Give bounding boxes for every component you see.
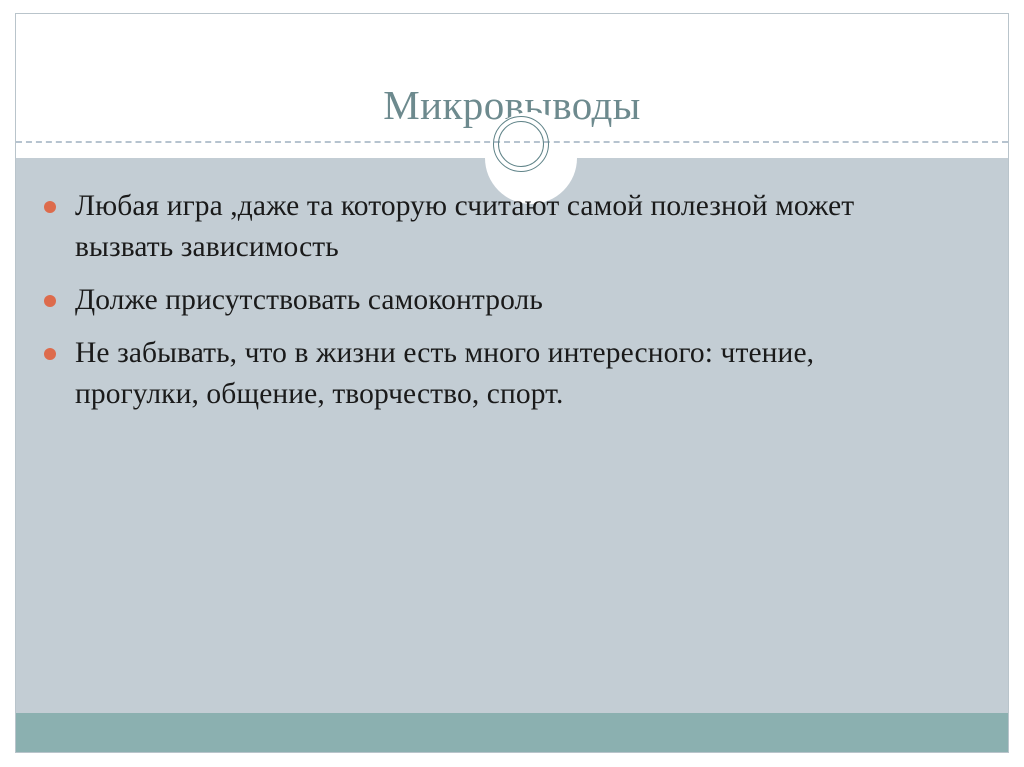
footer-accent-band xyxy=(16,713,1008,752)
list-item-label: Долже присутствовать самоконтроль xyxy=(75,280,898,321)
list-item-label: Не забывать, что в жизни есть много инте… xyxy=(75,333,898,415)
list-item: Долже присутствовать самоконтроль xyxy=(16,280,1008,321)
ring-inner-circle xyxy=(498,121,544,167)
slide-body: Любая игра ,даже та которую считают само… xyxy=(16,158,1008,752)
bullet-dot-icon xyxy=(44,295,56,307)
list-item-label: Любая игра ,даже та которую считают само… xyxy=(75,186,898,268)
list-item: Любая игра ,даже та которую считают само… xyxy=(16,186,1008,268)
bullet-list: Любая игра ,даже та которую считают само… xyxy=(16,186,1008,427)
list-item: Не забывать, что в жизни есть много инте… xyxy=(16,333,1008,415)
bullet-dot-icon xyxy=(44,201,56,213)
bullet-dot-icon xyxy=(44,348,56,360)
presentation-slide: Микровыводы Любая игра ,даже та которую … xyxy=(15,13,1009,753)
double-ring-ornament-icon xyxy=(493,116,549,172)
